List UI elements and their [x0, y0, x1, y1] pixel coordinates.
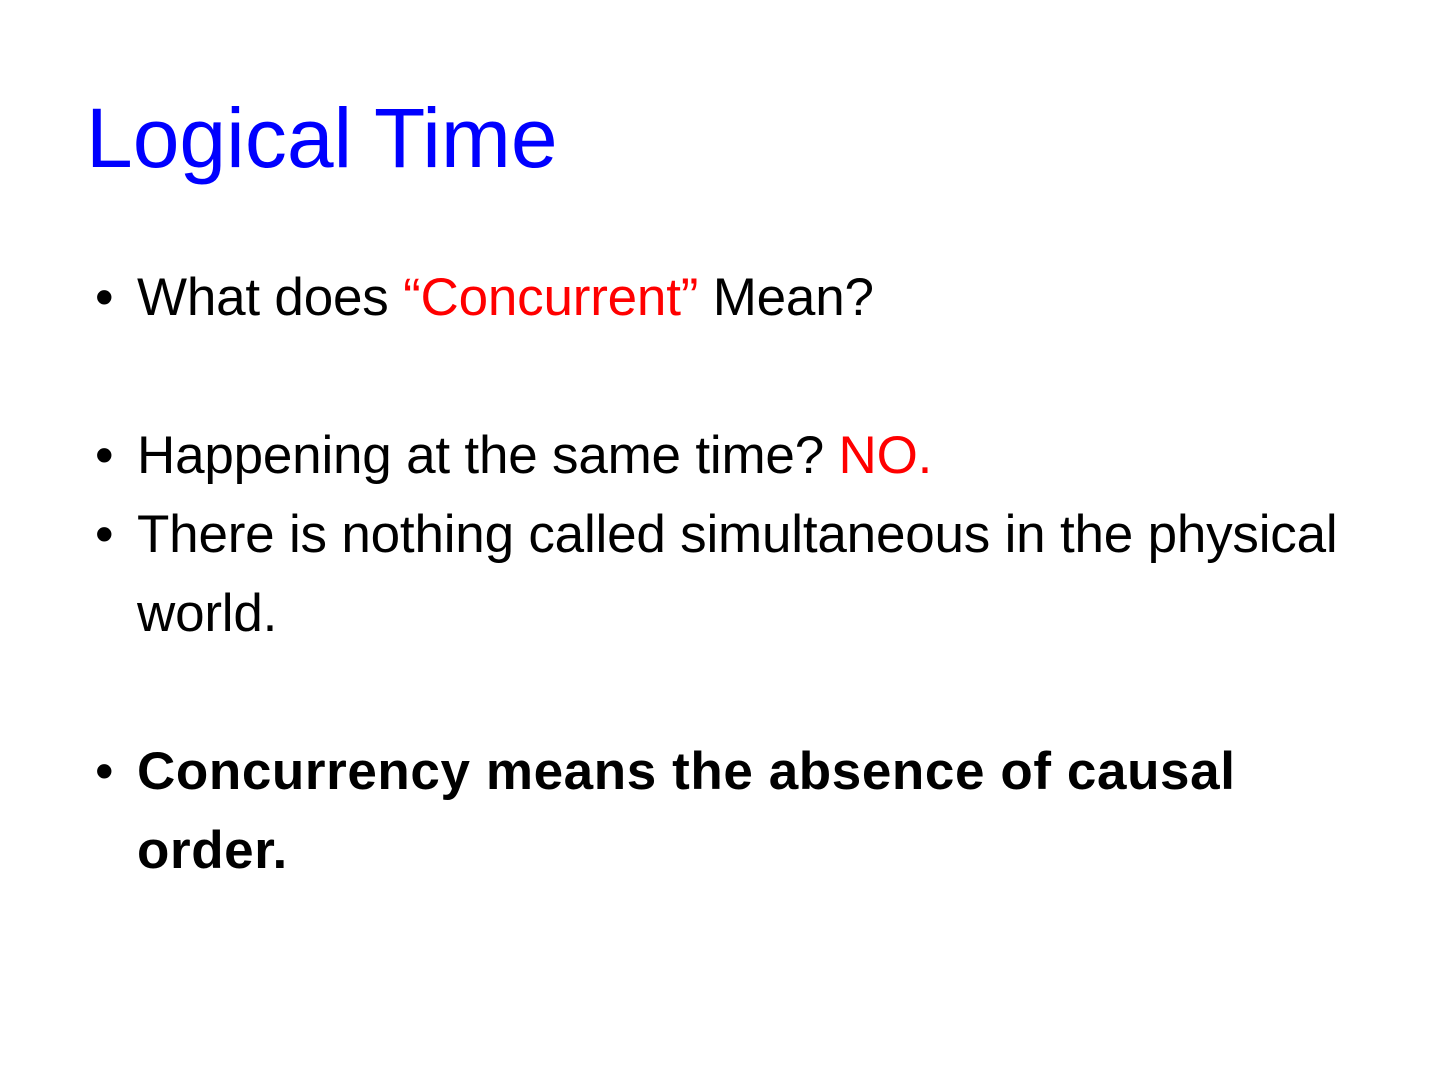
list-item: •Happening at the same time? NO. [88, 416, 1388, 495]
highlighted-text: NO. [839, 426, 933, 485]
highlighted-text: “Concurrent” [403, 268, 698, 327]
list-item: •There is nothing called simultaneous in… [88, 495, 1388, 653]
bullet-point-icon: • [95, 732, 144, 811]
list-item-text: Happening at the same time? NO. [137, 426, 932, 485]
list-item-text: What does “Concurrent” Mean? [137, 268, 874, 327]
page-title: Logical Time [86, 92, 558, 184]
bullet-point-icon: • [95, 258, 144, 337]
plain-text: Mean? [698, 268, 874, 327]
bullet-point-icon: • [95, 495, 144, 574]
plain-text: Concurrency means the absence of causal … [137, 742, 1236, 880]
plain-text: There is nothing called simultaneous in … [137, 505, 1337, 643]
plain-text: What does [137, 268, 403, 327]
list-item: •Concurrency means the absence of causal… [88, 732, 1388, 890]
list-item: •What does “Concurrent” Mean? [88, 258, 1388, 337]
plain-text: Happening at the same time? [137, 426, 839, 485]
list-item-text: Concurrency means the absence of causal … [137, 742, 1236, 880]
bullet-list: •What does “Concurrent” Mean?•Happening … [88, 258, 1388, 890]
list-item-text: There is nothing called simultaneous in … [137, 505, 1337, 643]
bullet-point-icon: • [95, 416, 144, 495]
bullet-spacer [88, 653, 1388, 732]
bullet-spacer [88, 337, 1388, 416]
slide-canvas: Logical Time •What does “Concurrent” Mea… [0, 0, 1440, 1080]
